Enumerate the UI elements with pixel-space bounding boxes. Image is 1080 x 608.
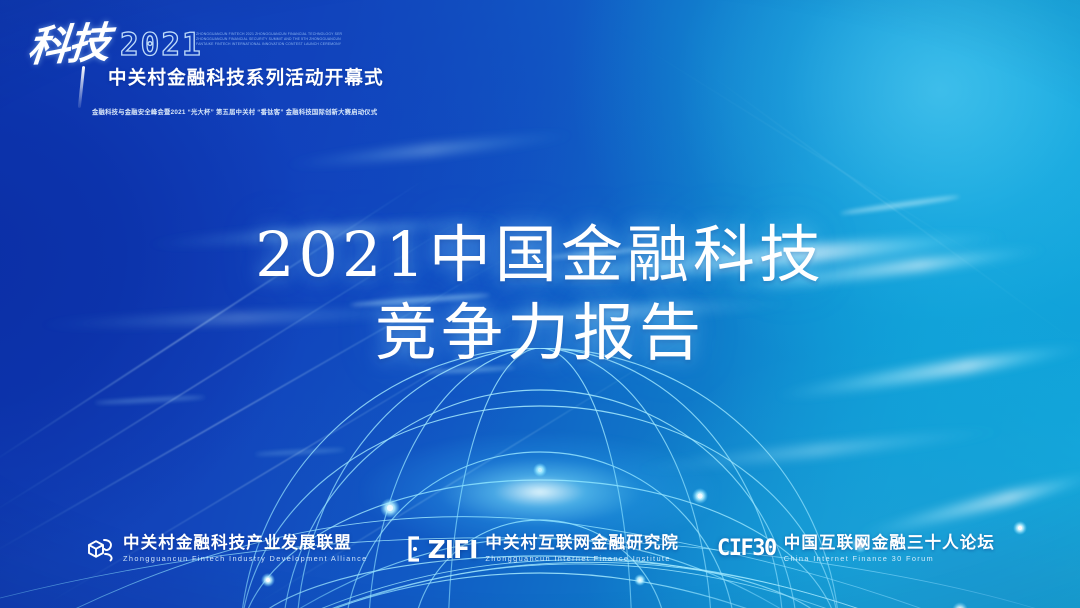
logo-cif30: CIF30 中国互联网金融三十人论坛 China Internet Financ… bbox=[717, 534, 995, 564]
cif30-logo-text: 中国互联网金融三十人论坛 China Internet Finance 30 F… bbox=[784, 534, 995, 564]
event-header-logo: 科技 2021 ZHONGGUANCUN FINTECH 2021 ZHONGG… bbox=[24, 22, 344, 100]
alliance-logo-text: 中关村金融科技产业发展联盟 Zhongguancun Fintech Indus… bbox=[123, 534, 368, 564]
zifi-bracket-icon bbox=[406, 536, 420, 562]
footer-logo-row: 中关村金融科技产业发展联盟 Zhongguancun Fintech Indus… bbox=[0, 534, 1080, 564]
logo-zifi: ZIFI 中关村互联网金融研究院 Zhongguancun Internet F… bbox=[406, 534, 679, 564]
zifi-name-en: Zhongguancun Internet Finance Institute bbox=[485, 554, 679, 564]
alliance-name-cn: 中关村金融科技产业发展联盟 bbox=[123, 534, 368, 553]
micro-english-line-3: FANTAIKE FINTECH INTERNATIONAL INNOVATIO… bbox=[196, 42, 342, 47]
logo-alliance: 中关村金融科技产业发展联盟 Zhongguancun Fintech Indus… bbox=[85, 534, 368, 564]
zifi-wordmark: ZIFI bbox=[428, 537, 478, 562]
event-subtitle: 中关村金融科技系列活动开幕式 bbox=[108, 64, 384, 90]
alliance-cube-icon bbox=[85, 534, 115, 564]
alliance-name-en: Zhongguancun Fintech Industry Developmen… bbox=[123, 554, 368, 564]
cif30-wordmark: CIF30 bbox=[717, 538, 776, 560]
cif30-name-cn: 中国互联网金融三十人论坛 bbox=[784, 534, 995, 553]
cif30-name-en: China Internet Finance 30 Forum bbox=[784, 554, 995, 564]
year-outline-2021: 2021 bbox=[120, 30, 203, 61]
poster-canvas: 科技 2021 ZHONGGUANCUN FINTECH 2021 ZHONGG… bbox=[0, 0, 1080, 608]
event-tagline: 金融科技与金融安全峰会暨2021 “光大杯” 第五届中关村 “番钛客” 金融科技… bbox=[92, 107, 377, 116]
zifi-name-cn: 中关村互联网金融研究院 bbox=[485, 534, 679, 553]
micro-english-text: ZHONGGUANCUN FINTECH 2021 ZHONGGUANCUN F… bbox=[196, 32, 342, 47]
brush-calligraphy-logo: 科技 bbox=[26, 22, 110, 68]
zifi-logo-text: 中关村互联网金融研究院 Zhongguancun Internet Financ… bbox=[485, 534, 679, 564]
